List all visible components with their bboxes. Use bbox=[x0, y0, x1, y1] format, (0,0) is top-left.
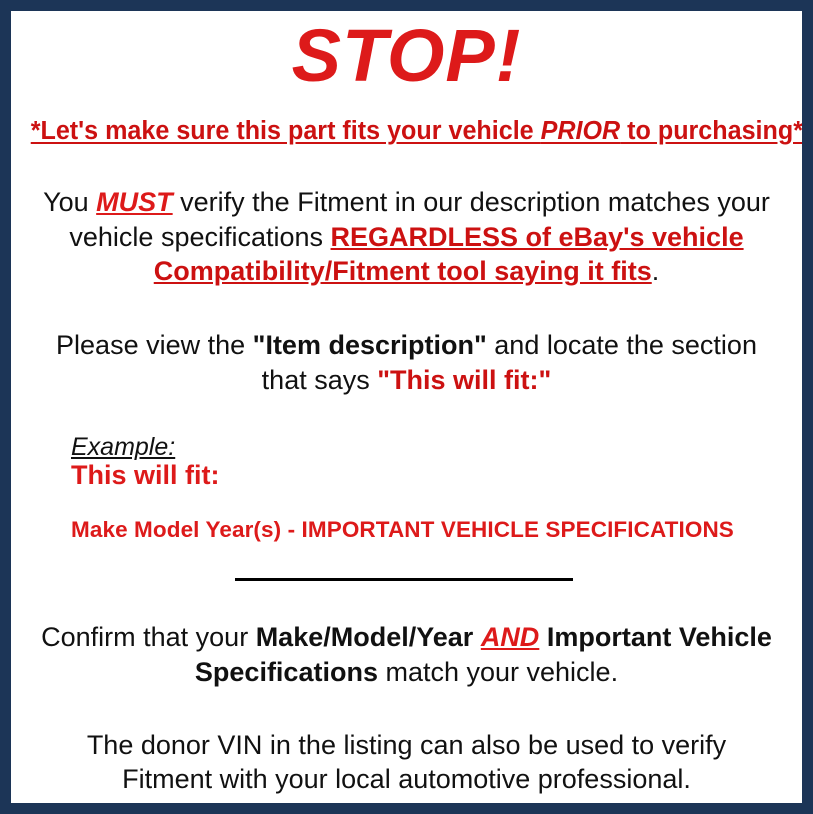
example-spec-line: Make Model Year(s) - IMPORTANT VEHICLE S… bbox=[71, 491, 788, 543]
item-description-emphasis: "Item description" bbox=[253, 330, 487, 360]
thanks-line: Thank you for confirming Fitment! bbox=[25, 797, 788, 814]
subtitle-text-before: *Let's make sure this part fits your veh… bbox=[31, 117, 541, 145]
fitment-notice-card: STOP! *Let's make sure this part fits yo… bbox=[0, 0, 813, 814]
confirm-space-2 bbox=[539, 622, 547, 652]
example-fit-header: This will fit: bbox=[71, 461, 788, 491]
must-text-3: . bbox=[652, 256, 660, 286]
stop-headline: STOP! bbox=[25, 11, 788, 93]
confirm-text-1: Confirm that your bbox=[41, 622, 256, 652]
paragraph-please-view: Please view the "Item description" and l… bbox=[25, 289, 788, 397]
must-emphasis: MUST bbox=[96, 187, 173, 217]
paragraph-must-verify: You MUST verify the Fitment in our descr… bbox=[25, 146, 788, 289]
must-text-1: You bbox=[43, 187, 96, 217]
please-text-1: Please view the bbox=[56, 330, 253, 360]
fitment-subtitle: *Let's make sure this part fits your veh… bbox=[31, 93, 783, 146]
make-model-year-emphasis: Make/Model/Year bbox=[256, 622, 474, 652]
notice-content: STOP! *Let's make sure this part fits yo… bbox=[11, 11, 802, 803]
paragraph-confirm: Confirm that your Make/Model/Year AND Im… bbox=[25, 586, 788, 689]
example-block: Example: This will fit: Make Model Year(… bbox=[25, 397, 788, 542]
this-will-fit-emphasis: "This will fit:" bbox=[377, 365, 551, 395]
confirm-text-2: match your vehicle. bbox=[378, 657, 618, 687]
and-emphasis: AND bbox=[481, 622, 540, 652]
example-label: Example: bbox=[71, 433, 175, 461]
confirm-space-1 bbox=[473, 622, 481, 652]
subtitle-emphasis-prior: PRIOR bbox=[541, 117, 621, 145]
horizontal-divider bbox=[235, 578, 573, 581]
paragraph-donor-vin: The donor VIN in the listing can also be… bbox=[25, 690, 788, 797]
subtitle-text-after: to purchasing* bbox=[620, 117, 803, 145]
divider-container bbox=[25, 542, 788, 586]
